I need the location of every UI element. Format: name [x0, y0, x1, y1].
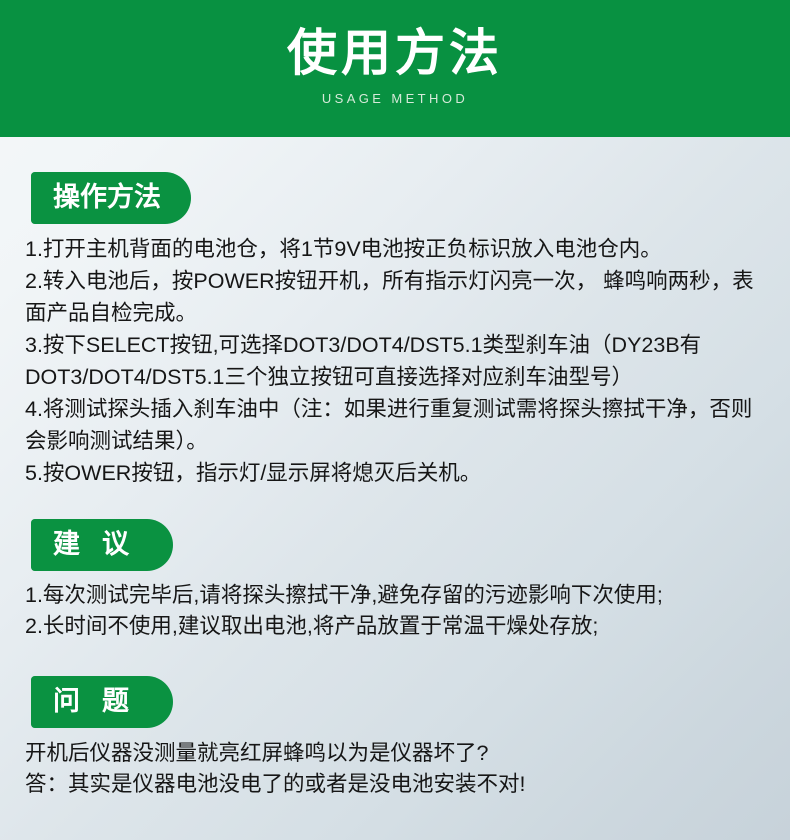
- section-question-body: 开机后仪器没测量就亮红屏蜂鸣以为是仪器坏了? 答：其实是仪器电池没电了的或者是没…: [25, 738, 770, 800]
- section-operation-body: 1.打开主机背面的电池仓，将1节9V电池按正负标识放入电池仓内。 2.转入电池后…: [25, 233, 770, 489]
- section-suggestion-body: 1.每次测试完毕后,请将探头擦拭干净,避免存留的污迹影响下次使用; 2.长时间不…: [25, 580, 770, 642]
- page-header: 使用方法 USAGE METHOD: [0, 0, 790, 137]
- section-question-badge: 问题: [31, 676, 173, 728]
- section-question-badge-wrap: 问题: [31, 676, 173, 728]
- section-suggestion-badge-wrap: 建议: [31, 519, 173, 571]
- section-operation-badge: 操作方法: [31, 172, 191, 224]
- section-operation-badge-wrap: 操作方法: [31, 172, 191, 224]
- page-subtitle: USAGE METHOD: [322, 91, 468, 107]
- usage-method-page: 使用方法 USAGE METHOD 操作方法 1.打开主机背面的电池仓，将1节9…: [0, 0, 790, 840]
- page-title: 使用方法: [287, 24, 503, 82]
- section-suggestion-badge: 建议: [31, 519, 173, 571]
